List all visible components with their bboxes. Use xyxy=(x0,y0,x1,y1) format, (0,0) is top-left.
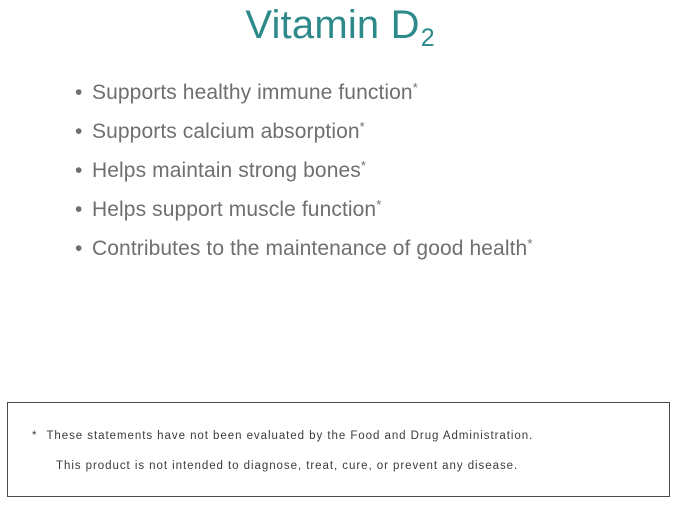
product-benefits-panel: Vitamin D2 •Supports healthy immune func… xyxy=(0,0,679,506)
list-item: •Helps support muscle function* xyxy=(74,190,654,229)
page-title-text: Vitamin D xyxy=(245,3,419,47)
footnote-marker: * xyxy=(376,197,381,212)
disclaimer-line-2-text: This product is not intended to diagnose… xyxy=(56,460,518,472)
bullet-icon: • xyxy=(75,190,82,229)
list-item: •Supports healthy immune function* xyxy=(74,73,654,112)
page-title: Vitamin D2 xyxy=(0,2,679,53)
list-item: •Contributes to the maintenance of good … xyxy=(74,229,654,268)
list-item: •Helps maintain strong bones* xyxy=(74,151,654,190)
footnote-marker: * xyxy=(361,158,366,173)
bullet-icon: • xyxy=(75,151,82,190)
disclaimer-line-1-text: These statements have not been evaluated… xyxy=(46,430,533,442)
disclaimer-asterisk: * xyxy=(32,430,37,442)
benefit-label: Contributes to the maintenance of good h… xyxy=(92,237,527,260)
benefit-label: Supports healthy immune function xyxy=(92,81,413,104)
benefit-label: Helps maintain strong bones xyxy=(92,159,361,182)
disclaimer-line-2: This product is not intended to diagnose… xyxy=(56,460,518,472)
benefits-list: •Supports healthy immune function* •Supp… xyxy=(74,73,654,268)
disclaimer-line-1: *These statements have not been evaluate… xyxy=(32,430,533,442)
benefit-label: Supports calcium absorption xyxy=(92,120,360,143)
bullet-icon: • xyxy=(75,229,82,268)
footnote-marker: * xyxy=(527,236,532,251)
disclaimer-box: *These statements have not been evaluate… xyxy=(7,402,670,497)
list-item: •Supports calcium absorption* xyxy=(74,112,654,151)
page-title-subscript: 2 xyxy=(421,24,435,52)
bullet-icon: • xyxy=(75,73,82,112)
footnote-marker: * xyxy=(360,119,365,134)
footnote-marker: * xyxy=(413,80,418,95)
benefit-label: Helps support muscle function xyxy=(92,198,376,221)
bullet-icon: • xyxy=(75,112,82,151)
